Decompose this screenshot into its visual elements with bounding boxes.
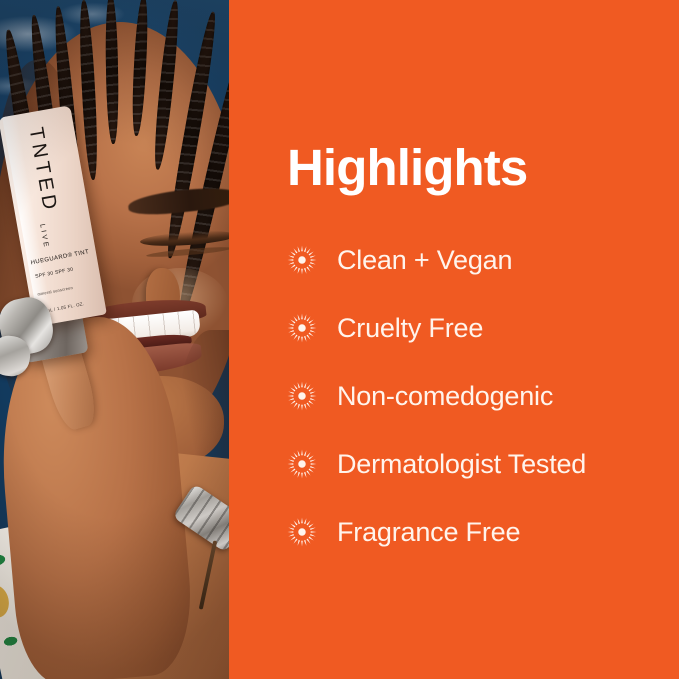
highlight-item: Non-comedogenic <box>287 362 679 430</box>
highlight-item-label: Non-comedogenic <box>337 383 553 410</box>
highlights-list: Clean + VeganCruelty FreeNon-comedogenic… <box>287 226 679 566</box>
highlights-panel: Highlights Clean + VeganCruelty FreeNon-… <box>229 0 679 679</box>
highlight-item-label: Dermatologist Tested <box>337 451 586 478</box>
page-title: Highlights <box>287 141 527 195</box>
highlight-item: Clean + Vegan <box>287 226 679 294</box>
sunburst-icon <box>287 245 317 275</box>
highlight-item: Fragrance Free <box>287 498 679 566</box>
highlight-item-label: Cruelty Free <box>337 315 483 342</box>
model-product-photo: TNTED LIVE HUEGUARD® TINT SPF 30 SPF 30 … <box>0 0 229 679</box>
highlight-item: Cruelty Free <box>287 294 679 362</box>
highlight-item-label: Clean + Vegan <box>337 247 512 274</box>
sunburst-icon <box>287 449 317 479</box>
sunburst-icon <box>287 517 317 547</box>
highlight-item: Dermatologist Tested <box>287 430 679 498</box>
sunburst-icon <box>287 313 317 343</box>
product-highlights-banner: TNTED LIVE HUEGUARD® TINT SPF 30 SPF 30 … <box>0 0 679 679</box>
sunburst-icon <box>287 381 317 411</box>
highlight-item-label: Fragrance Free <box>337 519 520 546</box>
